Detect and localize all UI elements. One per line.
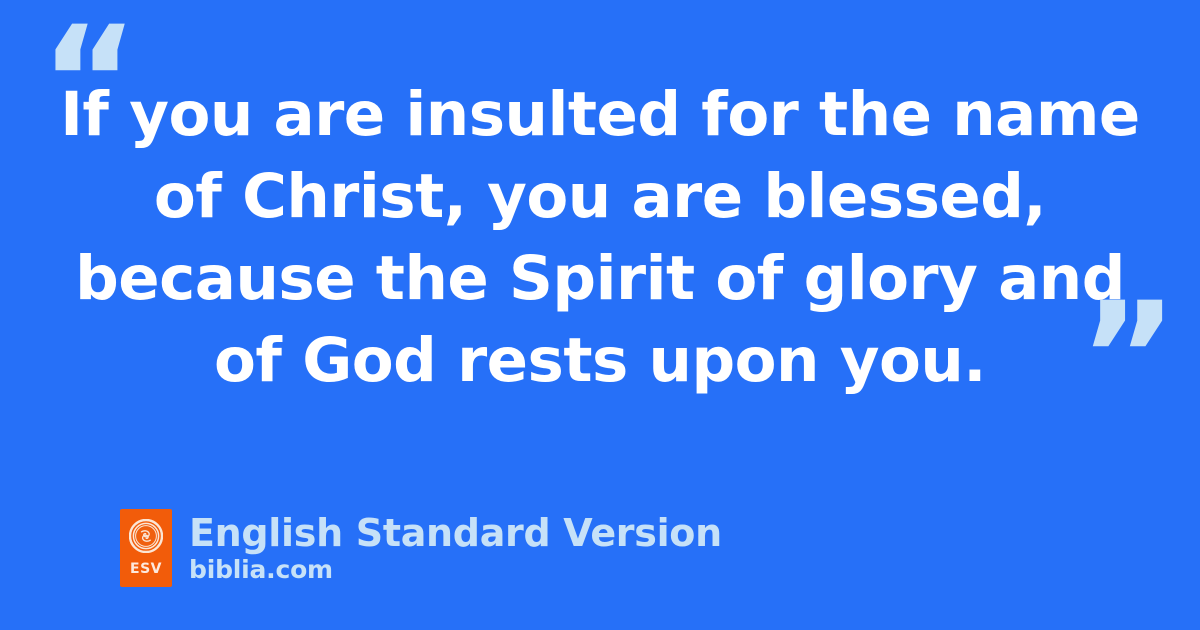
verse-line: of God rests upon you. [60, 320, 1140, 402]
esv-logo: ESV [120, 509, 172, 587]
verse-line: of Christ, you are blessed, [60, 156, 1140, 238]
source-site-url[interactable]: biblia.com [189, 555, 722, 585]
attribution-text: English Standard Version biblia.com [189, 512, 722, 585]
verse-line: because the Spirit of glory and [60, 238, 1140, 320]
closing-quote-icon: ” [1079, 283, 1176, 433]
verse-line: If you are insulted for the name [60, 74, 1140, 156]
bible-version-name: English Standard Version [189, 512, 722, 554]
esv-seal-icon [129, 519, 163, 553]
esv-logo-label: ESV [130, 561, 162, 577]
attribution: ESV English Standard Version biblia.com [120, 509, 722, 587]
verse-text: If you are insulted for the name of Chri… [60, 74, 1140, 402]
bible-verse-card: “ If you are insulted for the name of Ch… [0, 0, 1200, 630]
